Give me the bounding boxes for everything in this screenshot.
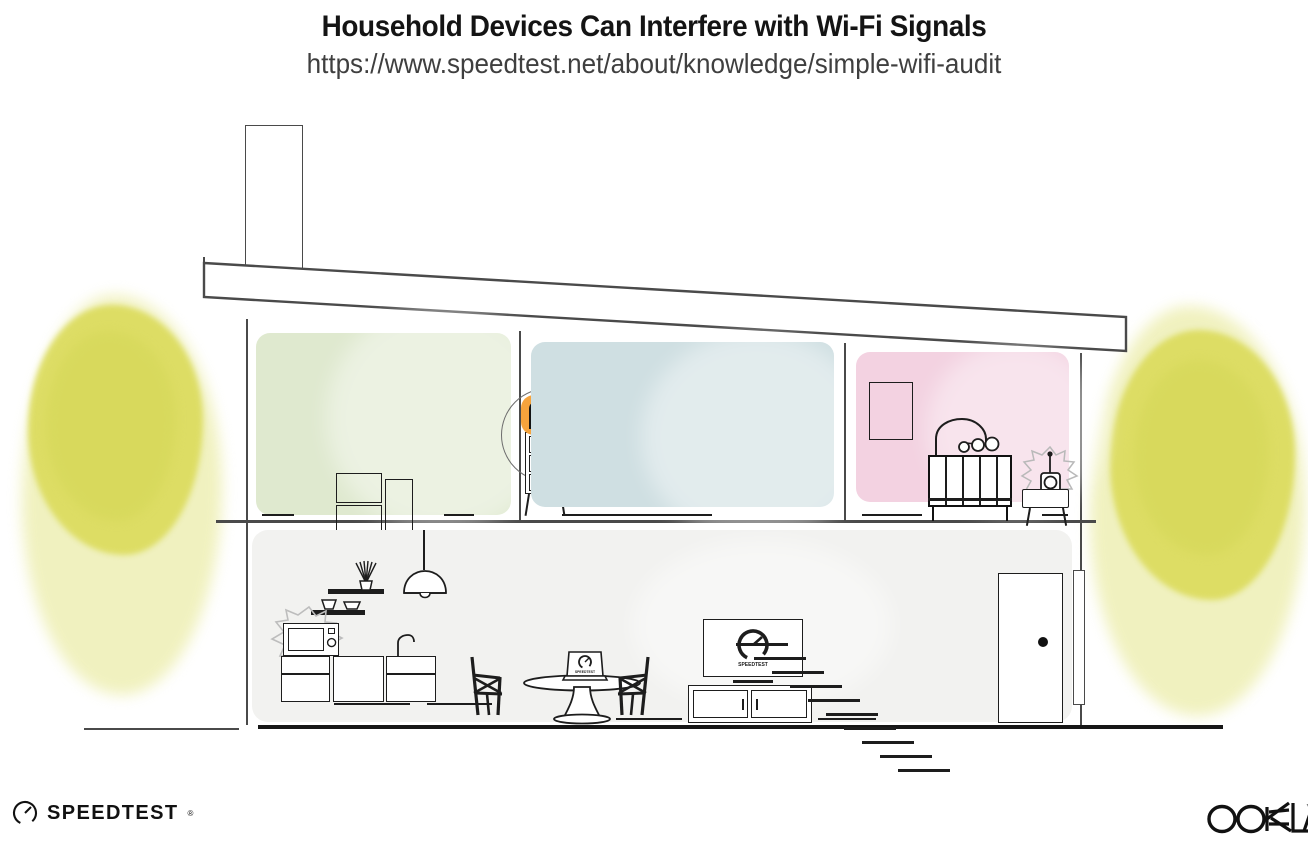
kitchen-cabinet-lower-right — [386, 674, 436, 702]
house-illustration: SPEEDTEST — [0, 105, 1308, 755]
tree-right-wash — [1090, 306, 1305, 716]
front-door-knob — [1036, 635, 1050, 649]
tree-left-wash — [22, 295, 222, 695]
stair-step — [862, 741, 914, 744]
media-console-door-left — [693, 690, 748, 718]
crib-leg-left — [932, 507, 934, 521]
stair-step — [808, 699, 860, 702]
kitchen-cabinet-center — [333, 656, 384, 702]
microwave-panel — [328, 628, 335, 634]
header: Household Devices Can Interfere with Wi-… — [0, 0, 1308, 80]
room-divider-2 — [844, 343, 846, 521]
tree-left-crown — [28, 305, 203, 555]
media-console-handle-left — [742, 699, 744, 710]
stair-step — [790, 685, 842, 688]
pendant-lamp-shade — [400, 567, 450, 607]
speedtest-registered-mark: ® — [188, 809, 194, 818]
wall-art-frame-1 — [336, 473, 382, 503]
crib-leg-right — [1006, 507, 1008, 521]
stair-step — [754, 657, 806, 660]
stair-step — [898, 769, 950, 772]
microwave-dial — [326, 637, 338, 649]
crib-rail-bottom — [928, 498, 1012, 501]
ookla-wordmark: ™ — [1205, 798, 1308, 838]
baseboard-seg-2 — [444, 514, 474, 516]
footer-speedtest-logo: SPEEDTEST ® — [12, 800, 193, 826]
microwave-window — [288, 628, 324, 651]
room-master-bedroom — [256, 333, 511, 515]
svg-text:SPEEDTEST: SPEEDTEST — [738, 662, 768, 668]
media-console-door-right — [751, 690, 807, 718]
living-floor-line-left — [616, 718, 682, 720]
tree-right-crown-core — [1134, 360, 1269, 555]
stair-step — [844, 727, 896, 730]
nursery-wall-frame — [869, 382, 913, 440]
footer-ookla-logo: ™ — [1205, 798, 1308, 838]
dining-chair-right — [612, 653, 656, 725]
baseboard-seg-5 — [1042, 514, 1068, 516]
stair-step — [880, 755, 932, 758]
router-shelf-leg-1 — [525, 494, 530, 516]
tree-left-crown-core — [46, 331, 176, 521]
kitchen-floor-line-1 — [334, 703, 410, 705]
window-panel — [1073, 570, 1085, 705]
stair-step — [826, 713, 878, 716]
tree-right-crown — [1110, 330, 1295, 600]
stair-floor-line — [823, 718, 875, 720]
baseboard-seg-1 — [262, 514, 294, 516]
dining-chair-left — [464, 653, 508, 725]
front-door-panel — [998, 573, 1063, 723]
baseboard-seg-3 — [562, 514, 712, 516]
page-title: Household Devices Can Interfere with Wi-… — [46, 10, 1262, 43]
speedtest-gauge-icon — [12, 800, 38, 826]
room-sheen — [641, 332, 871, 542]
stair-step — [736, 643, 788, 646]
speedtest-wordmark: SPEEDTEST — [47, 802, 179, 825]
page-root: Household Devices Can Interfere with Wi-… — [0, 0, 1308, 861]
page-subtitle-url: https://www.speedtest.net/about/knowledg… — [46, 49, 1262, 80]
laptop: SPEEDTEST — [563, 650, 607, 686]
wall-art-frame-3 — [385, 479, 413, 534]
baseboard-seg-4 — [862, 514, 922, 516]
pendant-lamp-cord — [423, 530, 425, 570]
svg-text:SPEEDTEST: SPEEDTEST — [575, 670, 596, 674]
ground-line-main — [258, 725, 1223, 729]
room-second-bedroom — [531, 342, 834, 507]
media-console-handle-right — [756, 699, 758, 710]
television-screen-speedtest-icon: SPEEDTEST — [730, 627, 776, 669]
stair-step — [772, 671, 824, 674]
kitchen-sink-faucet — [394, 633, 420, 659]
nursery-nightstand — [1022, 489, 1069, 508]
tree-right — [1090, 300, 1308, 720]
kitchen-cabinet-upper-left — [281, 656, 330, 674]
television-stand — [733, 680, 773, 683]
roof-left-stub — [203, 257, 205, 283]
ground-line-left — [84, 728, 239, 730]
kitchen-cabinet-lower-left — [281, 674, 330, 702]
shelf-plant — [350, 561, 382, 591]
